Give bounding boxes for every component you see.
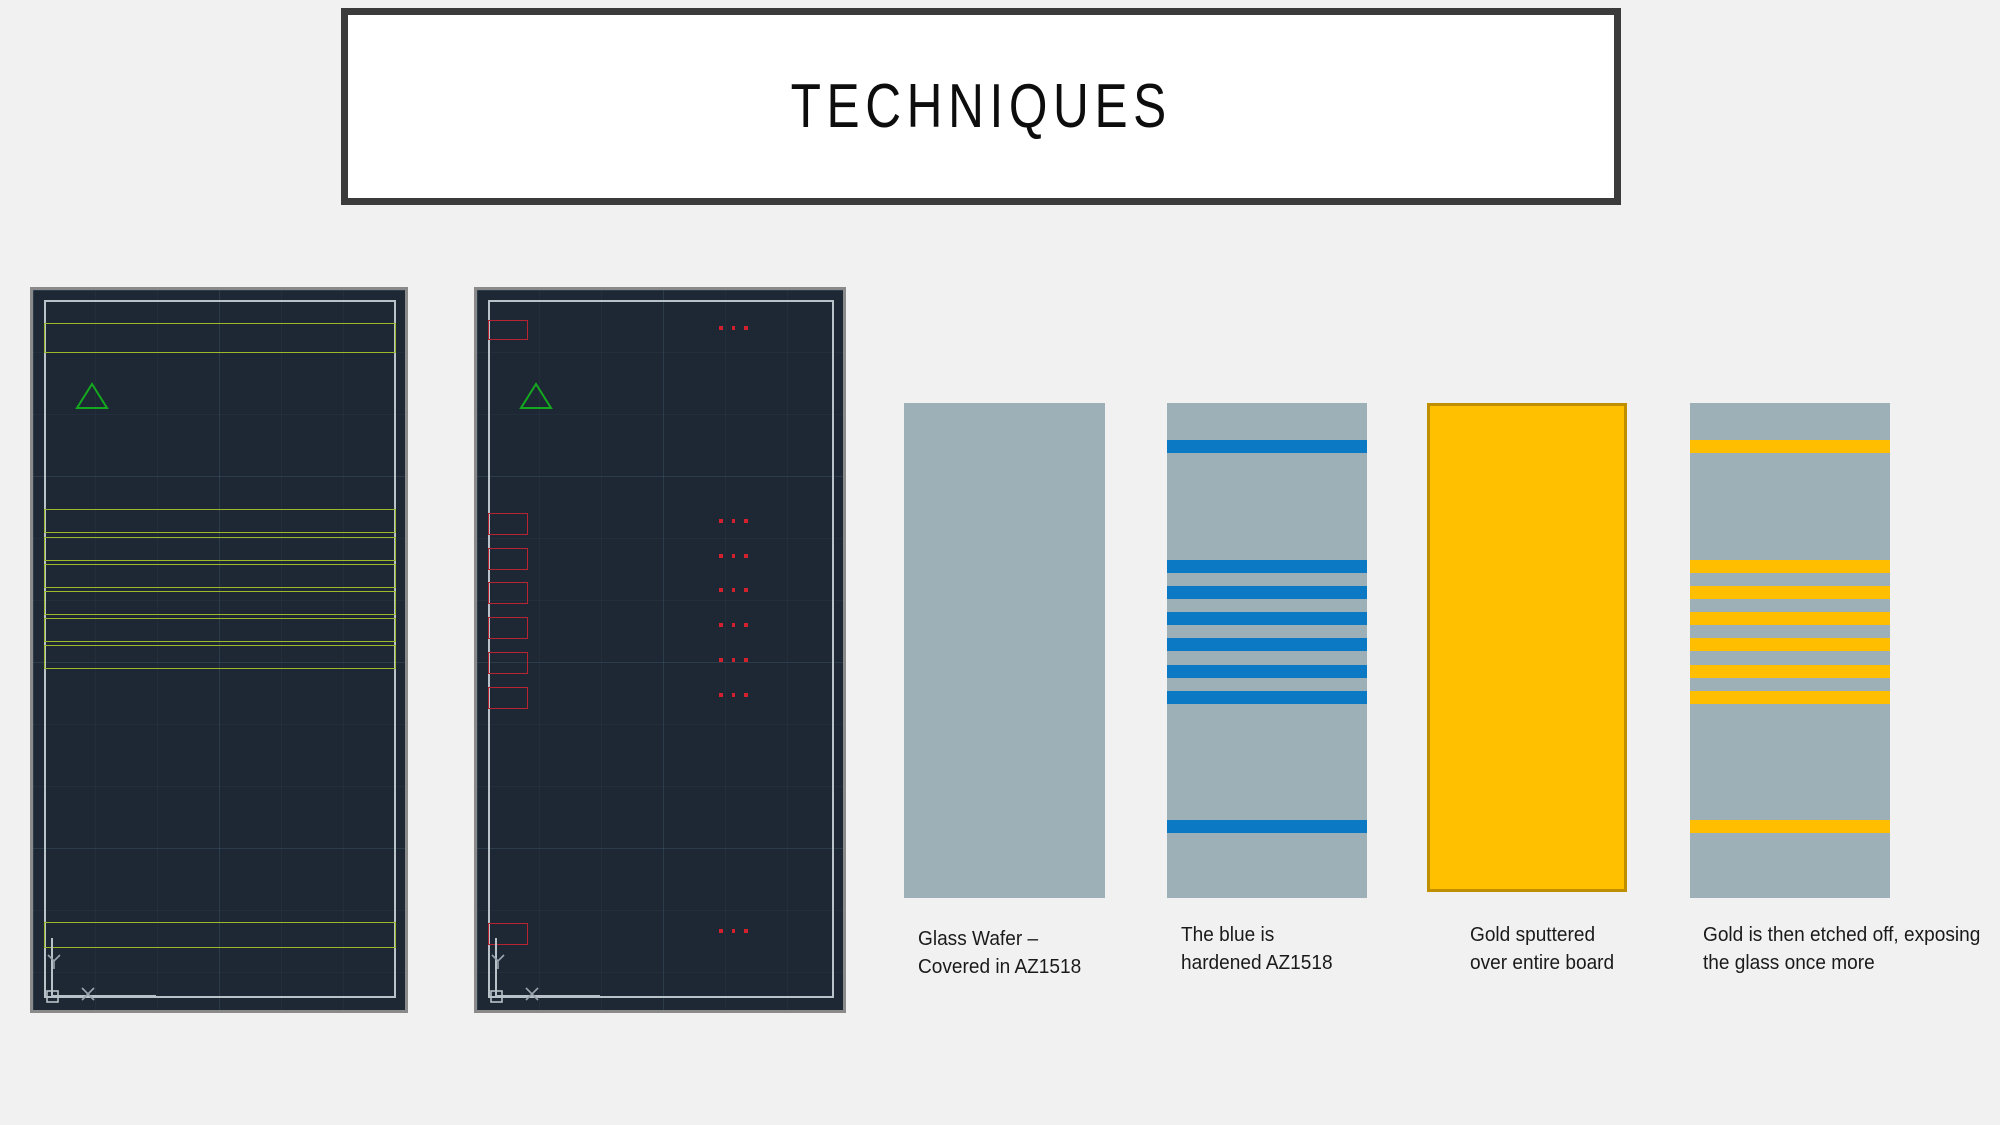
via-dots — [719, 658, 748, 662]
via-dot — [719, 693, 723, 697]
via-dot — [732, 929, 736, 933]
via-dot — [732, 554, 736, 558]
via-dots — [719, 623, 748, 627]
via-dot — [732, 519, 736, 523]
resist-stripe — [1167, 820, 1367, 833]
ucs-axis-icon — [482, 936, 602, 1006]
via-dot — [732, 658, 736, 662]
via-dot — [744, 588, 748, 592]
via-dot — [719, 326, 723, 330]
resist-stripe — [1167, 612, 1367, 625]
slide-title-box: TECHNIQUES — [341, 8, 1621, 205]
mask-bar — [44, 509, 396, 533]
via-dot — [732, 623, 736, 627]
via-dot — [744, 693, 748, 697]
resist-stripe — [1167, 586, 1367, 599]
resist-stripe — [1167, 665, 1367, 678]
via-dot — [719, 519, 723, 523]
via-dot — [719, 658, 723, 662]
gold-stripe — [1690, 638, 1890, 651]
cad-viewport-1 — [33, 290, 405, 1010]
via-dots — [719, 588, 748, 592]
via-dots — [719, 554, 748, 558]
caption-glass-wafer: Glass Wafer – Covered in AZ1518 — [918, 925, 1141, 981]
electrode-pad — [488, 320, 528, 340]
cad-grid-minor-2 — [477, 290, 843, 1010]
triangle-marker-icon — [519, 381, 553, 411]
mask-bar — [44, 564, 396, 588]
gold-stripe — [1690, 586, 1890, 599]
resist-stripe — [1167, 638, 1367, 651]
via-dot — [744, 623, 748, 627]
via-dot — [744, 929, 748, 933]
gold-stripe — [1690, 612, 1890, 625]
gold-stripe — [1690, 691, 1890, 704]
via-dot — [732, 693, 736, 697]
electrode-pad — [488, 582, 528, 604]
page-title: TECHNIQUES — [790, 71, 1171, 142]
resist-stripe — [1167, 560, 1367, 573]
via-dot — [744, 554, 748, 558]
via-dot — [732, 326, 736, 330]
via-dot — [719, 623, 723, 627]
wafer-gold-etched[interactable] — [1690, 403, 1890, 898]
via-dot — [719, 554, 723, 558]
electrode-pad — [488, 652, 528, 674]
mask-bar — [44, 645, 396, 669]
electrode-pad — [488, 513, 528, 535]
gold-stripe — [1690, 665, 1890, 678]
gold-stripe — [1690, 820, 1890, 833]
caption-hardened-resist: The blue is hardened AZ1518 — [1181, 921, 1404, 977]
via-dot — [744, 658, 748, 662]
via-dot — [719, 588, 723, 592]
gold-stripe — [1690, 440, 1890, 453]
via-dot — [744, 519, 748, 523]
electrode-pad — [488, 923, 528, 945]
cad-panel-photomask-layout[interactable] — [30, 287, 408, 1013]
resist-stripe — [1167, 440, 1367, 453]
via-dots — [719, 326, 748, 330]
wafer-hardened-resist[interactable] — [1167, 403, 1367, 898]
electrode-pad — [488, 617, 528, 639]
mask-bar — [44, 618, 396, 642]
gold-stripe — [1690, 560, 1890, 573]
caption-gold-sputtered: Gold sputtered over entire board — [1470, 921, 1693, 977]
cad-panel-electrode-layout[interactable] — [474, 287, 846, 1013]
via-dots — [719, 693, 748, 697]
mask-bar — [44, 323, 396, 353]
resist-stripe — [1167, 691, 1367, 704]
via-dots — [719, 929, 748, 933]
cad-viewport-2 — [477, 290, 843, 1010]
via-dots — [719, 519, 748, 523]
electrode-pad — [488, 687, 528, 709]
wafer-gold-sputtered[interactable] — [1427, 403, 1627, 892]
mask-bar — [44, 922, 396, 948]
mask-bar — [44, 537, 396, 561]
via-dot — [744, 326, 748, 330]
cad-grid-major-2 — [477, 290, 843, 1010]
cad-drawing-frame-2 — [488, 300, 834, 998]
triangle-marker-icon — [75, 381, 109, 411]
electrode-pad — [488, 548, 528, 570]
wafer-glass-wafer[interactable] — [904, 403, 1105, 898]
caption-gold-etched: Gold is then etched off, exposing the gl… — [1703, 921, 1991, 977]
via-dot — [732, 588, 736, 592]
mask-bar — [44, 591, 396, 615]
via-dot — [719, 929, 723, 933]
